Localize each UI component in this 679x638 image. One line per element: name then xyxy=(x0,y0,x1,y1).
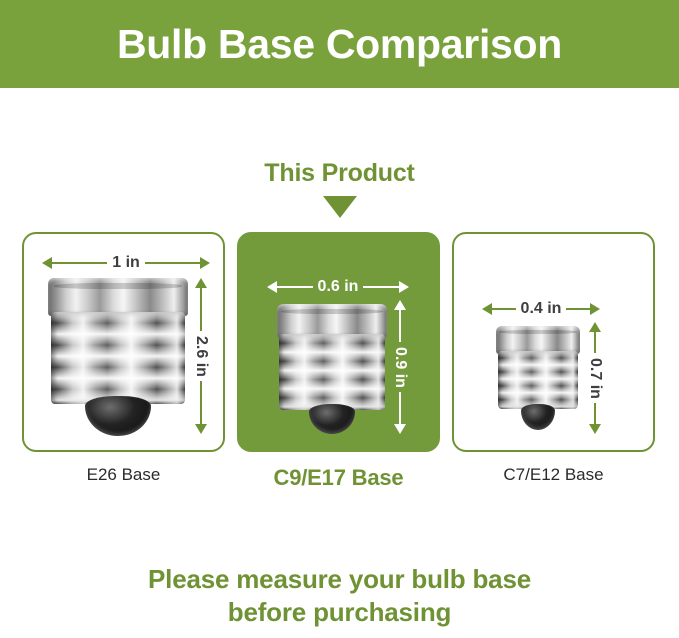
arrow-down-icon xyxy=(394,424,406,434)
dimension-line xyxy=(399,392,401,424)
arrow-left-icon xyxy=(42,257,52,269)
width-label: 1 in xyxy=(107,255,145,271)
bulb-tip xyxy=(309,404,355,434)
bulb-threads xyxy=(498,351,579,409)
dimension-line xyxy=(277,286,313,288)
this-product-label: This Product xyxy=(0,160,679,188)
comparison-card-c9-e17[interactable]: 0.6 in 0.9 in xyxy=(237,232,440,452)
arrow-right-icon xyxy=(399,281,409,293)
height-label: 0.9 in xyxy=(392,342,408,393)
width-dimension-c7-e12: 0.4 in xyxy=(482,302,600,316)
footer-note: Please measure your bulb base before pur… xyxy=(0,563,679,630)
this-product-callout: This Product xyxy=(0,160,679,218)
arrow-down-icon xyxy=(195,424,207,434)
arrow-up-icon xyxy=(195,278,207,288)
bulb-tip xyxy=(521,404,555,430)
width-dimension-c9-e17: 0.6 in xyxy=(267,280,409,294)
arrow-down-icon xyxy=(589,424,601,434)
height-dimension-c7-e12: 0.7 in xyxy=(588,322,602,434)
arrow-up-icon xyxy=(589,322,601,332)
page-title: Bulb Base Comparison xyxy=(117,24,562,65)
triangle-down-icon xyxy=(323,196,357,218)
dimension-line xyxy=(145,262,200,264)
bulb-threads xyxy=(279,334,385,410)
arrow-up-icon xyxy=(394,300,406,310)
bulb-base-e26-icon xyxy=(48,278,188,438)
bulb-collar xyxy=(496,326,580,354)
arrow-left-icon xyxy=(267,281,277,293)
dimension-line xyxy=(399,310,401,342)
dimension-line xyxy=(200,381,202,424)
height-dimension-e26: 2.6 in xyxy=(194,278,208,434)
caption-c7-e12: C7/E12 Base xyxy=(452,466,655,485)
dimension-line xyxy=(566,308,590,310)
caption-c9-e17: C9/E17 Base xyxy=(237,466,440,490)
height-label: 0.7 in xyxy=(587,353,603,404)
bulb-collar xyxy=(48,278,188,316)
comparison-cards-row: 1 in 2.6 in 0.6 in xyxy=(22,232,657,452)
comparison-card-c7-e12[interactable]: 0.4 in 0.7 in xyxy=(452,232,655,452)
caption-e26: E26 Base xyxy=(22,466,225,485)
header-banner: Bulb Base Comparison xyxy=(0,0,679,88)
bulb-base-c9e17-icon xyxy=(277,304,387,434)
comparison-captions-row: E26 Base C9/E17 Base C7/E12 Base xyxy=(22,466,657,496)
dimension-line xyxy=(594,332,596,353)
width-dimension-e26: 1 in xyxy=(42,256,210,270)
bulb-threads xyxy=(51,312,185,404)
height-dimension-c9-e17: 0.9 in xyxy=(393,300,407,434)
arrow-right-icon xyxy=(590,303,600,315)
arrow-left-icon xyxy=(482,303,492,315)
arrow-right-icon xyxy=(200,257,210,269)
bulb-tip xyxy=(85,396,151,436)
dimension-line xyxy=(594,403,596,424)
width-label: 0.6 in xyxy=(313,279,364,295)
bulb-base-c7e12-icon xyxy=(496,326,580,430)
comparison-card-e26[interactable]: 1 in 2.6 in xyxy=(22,232,225,452)
dimension-line xyxy=(52,262,107,264)
height-label: 2.6 in xyxy=(193,331,209,382)
dimension-line xyxy=(492,308,516,310)
dimension-line xyxy=(363,286,399,288)
bulb-collar xyxy=(277,304,387,338)
dimension-line xyxy=(200,288,202,331)
footer-note-line-1: Please measure your bulb base xyxy=(0,563,679,596)
footer-note-line-2: before purchasing xyxy=(0,596,679,629)
width-label: 0.4 in xyxy=(516,301,567,317)
